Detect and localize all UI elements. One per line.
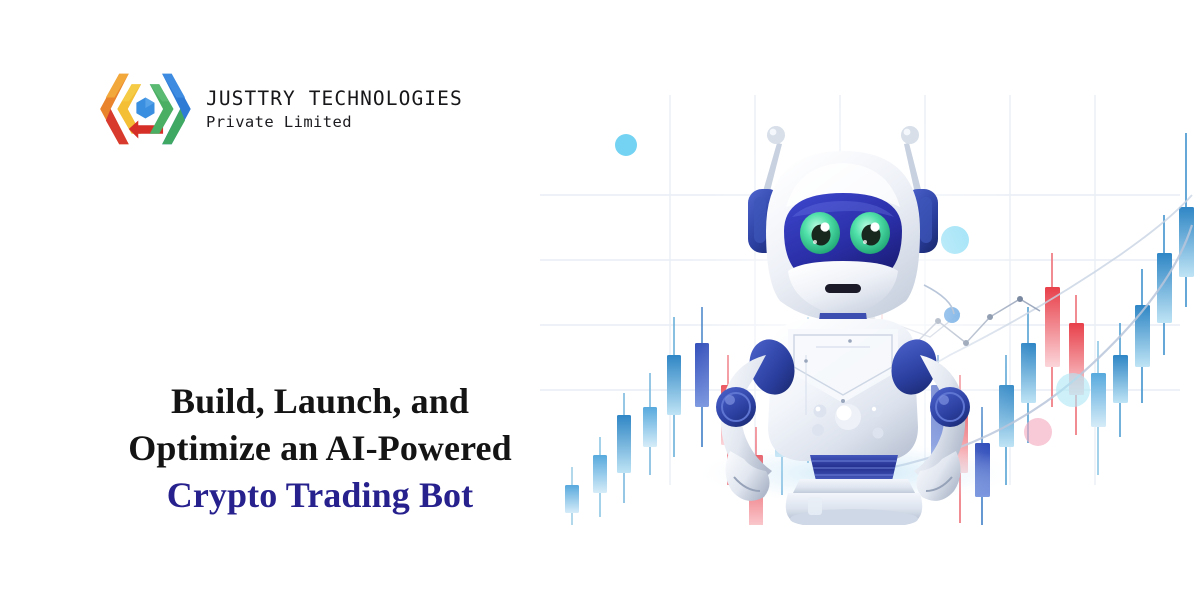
banner-root: JUSTTRY TECHNOLOGIES Private Limited Bui… [0,0,1200,600]
robot-base [792,479,916,495]
cyan-dot-left [615,134,637,156]
logo-company-name: JUSTTRY TECHNOLOGIES [206,88,463,110]
elbow-left [716,387,756,427]
robot-eye-right [850,212,890,254]
pink-blob-lower [1024,418,1052,446]
company-logo[interactable]: JUSTTRY TECHNOLOGIES Private Limited [96,68,463,150]
robot-mouth [825,284,861,293]
robot-eye-left [800,212,840,254]
robot-chart-artwork [520,55,1200,525]
justtry-hexagon-logo-icon [96,68,192,150]
logo-company-suffix: Private Limited [206,114,463,132]
logo-wordmark: JUSTTRY TECHNOLOGIES Private Limited [206,86,463,131]
ai-crypto-trading-robot-illustration [520,55,1200,525]
elbow-right [930,387,970,427]
cyan-blob-lower [1056,373,1090,407]
